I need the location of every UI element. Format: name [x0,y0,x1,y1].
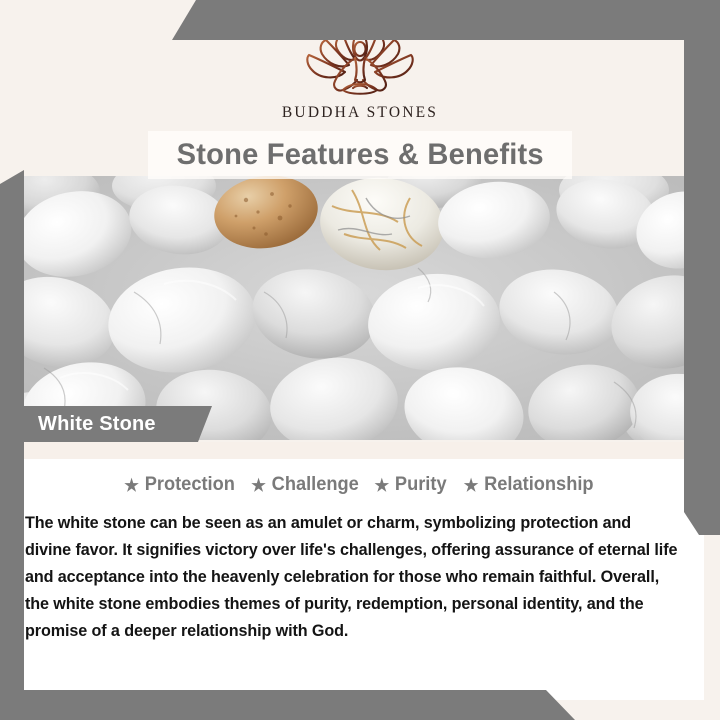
cream-accent-strip [14,442,704,459]
white-river-stones-photo [14,172,704,440]
feature-label: Protection [145,474,235,496]
stone-description-text: The white stone can be seen as an amulet… [25,510,680,645]
feature-item-challenge: ★ Challenge [246,474,365,496]
feature-label: Relationship [484,474,593,496]
brand-name: BUDDHA STONES [282,104,438,122]
content-card: ★ Protection ★ Challenge ★ Purity ★ Rela… [14,442,704,700]
page-title: Stone Features & Benefits [176,138,543,172]
stone-name-label: White Stone [38,413,156,436]
feature-label: Challenge [272,474,359,496]
star-icon: ★ [124,477,139,494]
star-icon: ★ [375,477,390,494]
feature-keywords-row: ★ Protection ★ Challenge ★ Purity ★ Rela… [14,474,704,496]
stone-name-banner: White Stone [0,406,212,442]
feature-item-protection: ★ Protection [119,474,241,496]
page-title-band: Stone Features & Benefits [148,131,572,179]
star-icon: ★ [252,477,267,494]
infographic-page: BUDDHA STONES Stone Features & Benefits [0,0,720,720]
feature-label: Purity [395,474,447,496]
feature-item-relationship: ★ Relationship [457,474,598,496]
star-icon: ★ [463,477,478,494]
feature-item-purity: ★ Purity [369,474,453,496]
